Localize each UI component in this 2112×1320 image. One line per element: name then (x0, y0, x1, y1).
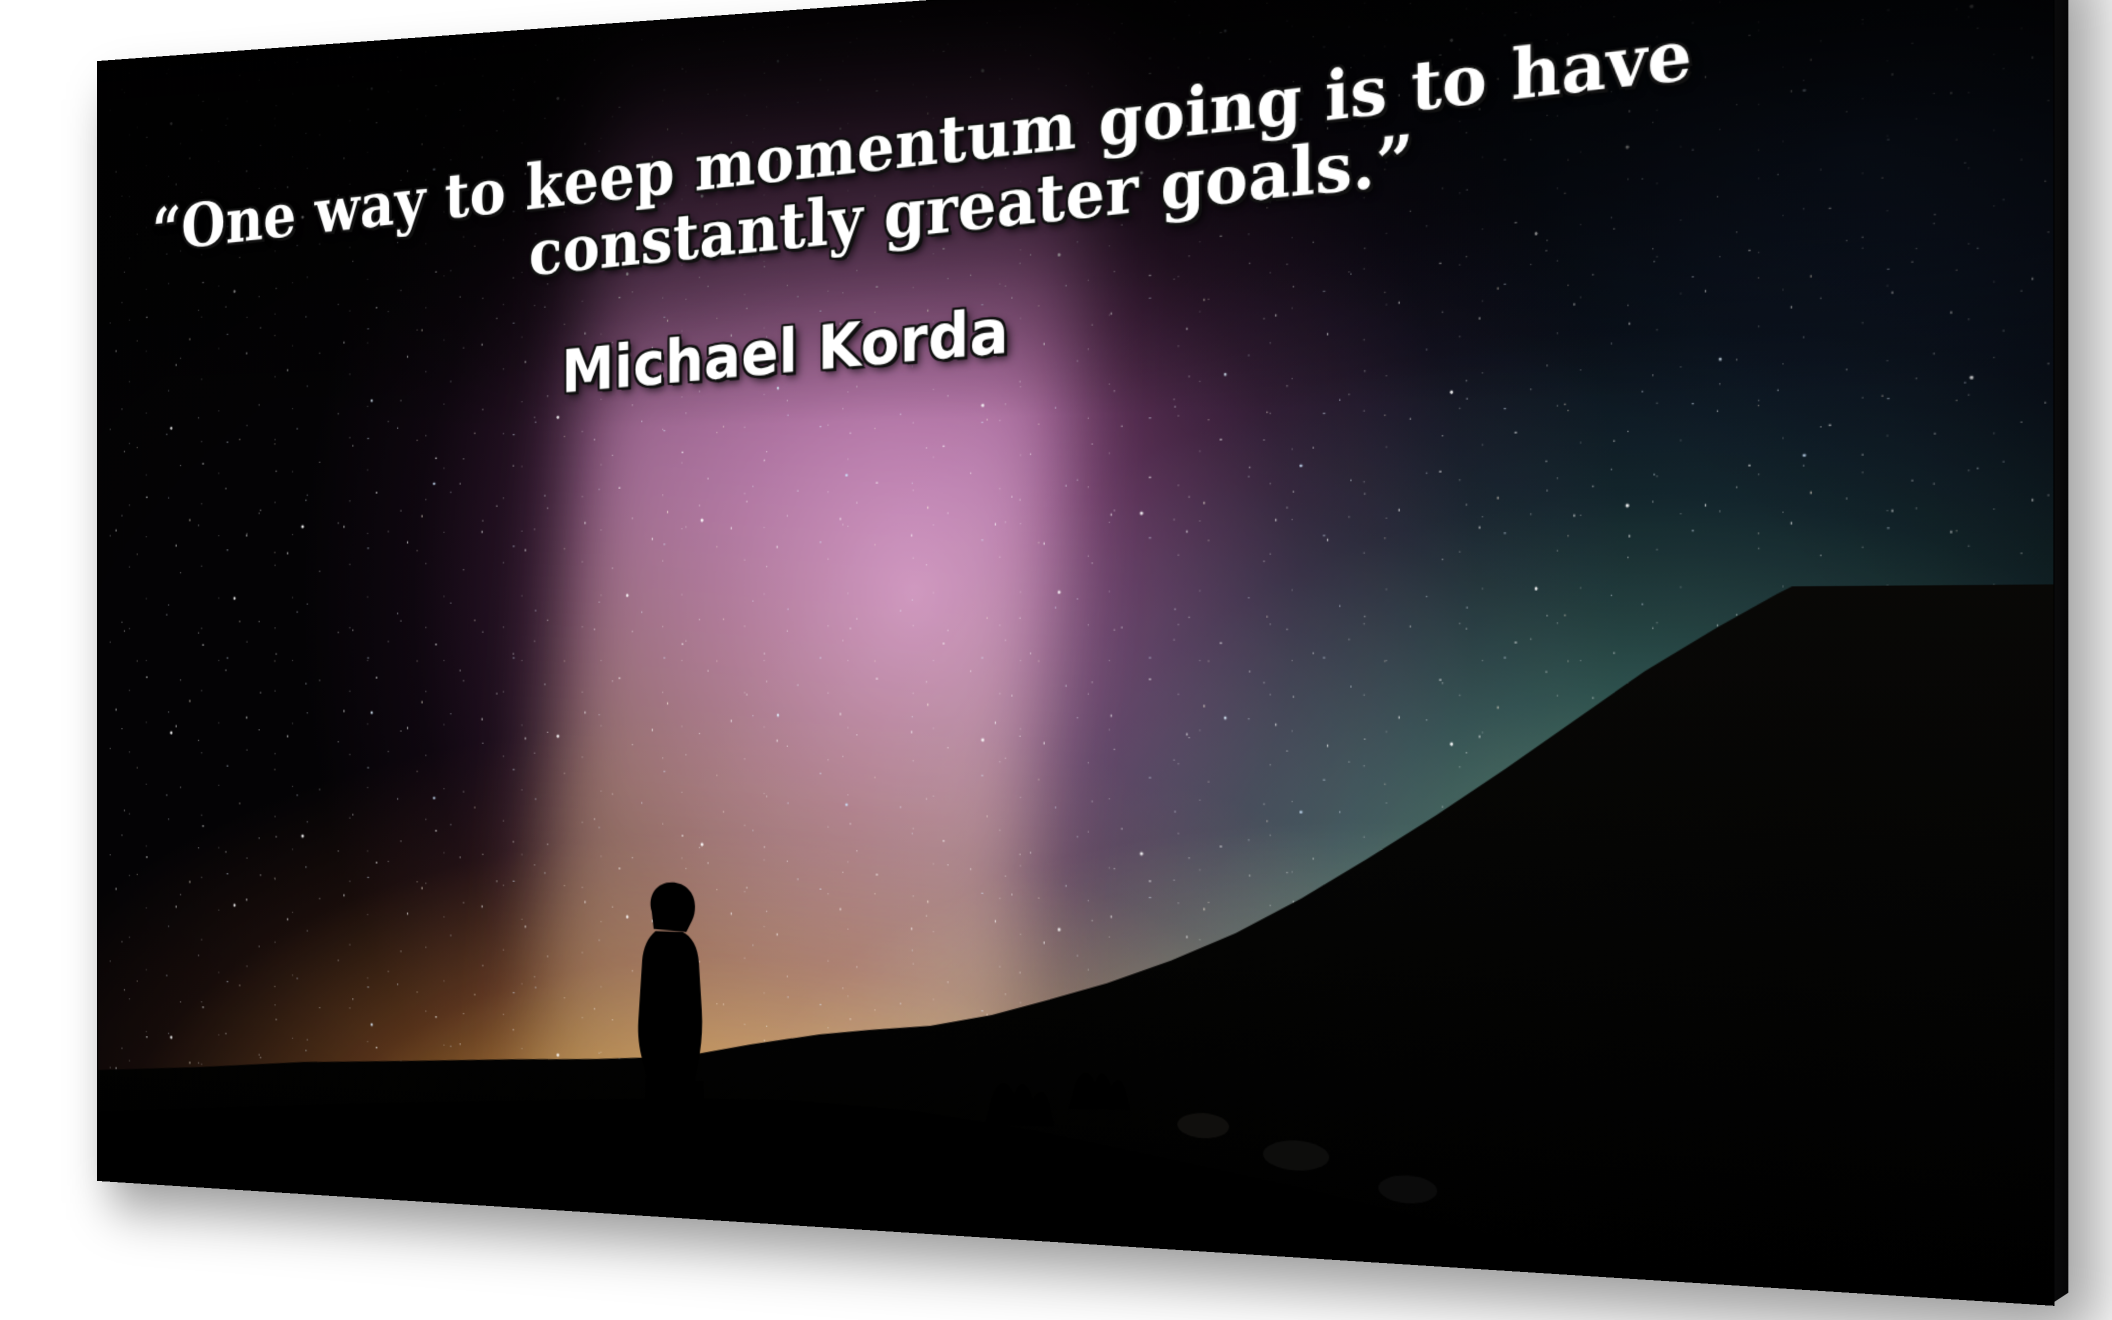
canvas-side-edge (2051, 0, 2069, 1304)
foreground-terrain (98, 584, 2053, 1305)
mockup-stage: “One way to keep momentum going is to ha… (0, 0, 2112, 1320)
night-sky-artwork: “One way to keep momentum going is to ha… (98, 0, 2053, 1305)
person-silhouette (638, 881, 707, 1214)
ridge-silhouette (98, 584, 2053, 1305)
canvas-print-scene: “One way to keep momentum going is to ha… (0, 0, 2112, 1320)
canvas-print-face: “One way to keep momentum going is to ha… (98, 0, 2053, 1305)
